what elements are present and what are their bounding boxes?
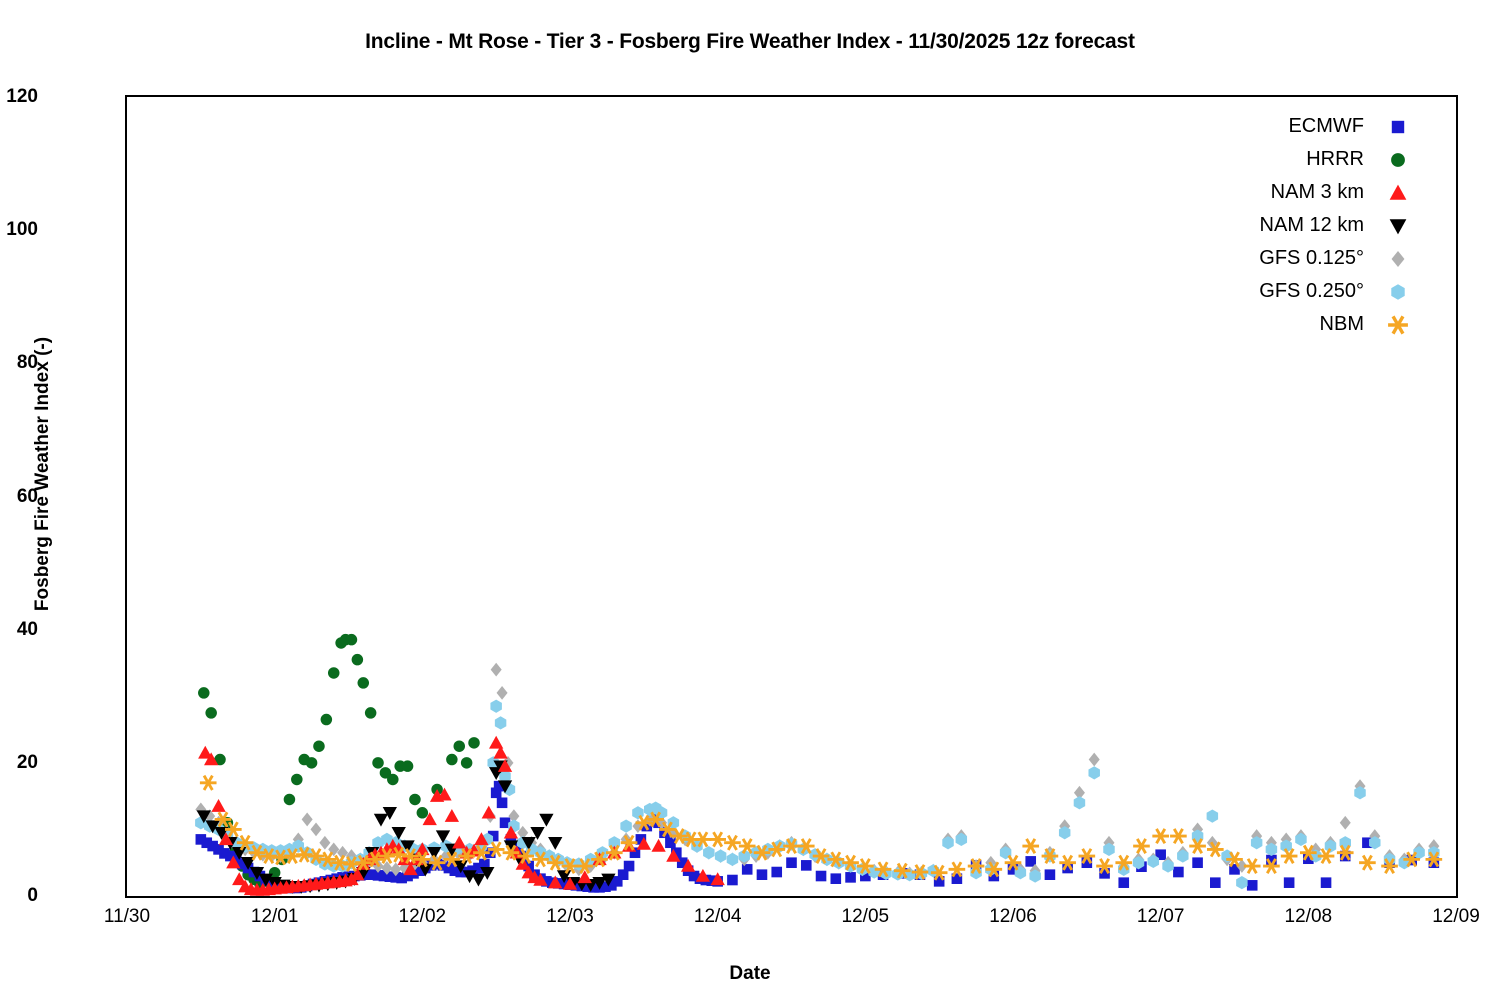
legend-item-nbm[interactable]: NBM — [1195, 308, 1410, 341]
legend-item-nam-3-km[interactable]: NAM 3 km — [1195, 176, 1410, 209]
y-tick-label: 120 — [0, 86, 38, 108]
triangle-up-marker-icon — [1386, 181, 1410, 205]
square-marker-icon — [1386, 115, 1410, 139]
y-tick-label: 60 — [0, 486, 38, 508]
y-tick-label: 40 — [0, 619, 38, 641]
y-tick-label: 20 — [0, 752, 38, 774]
legend-label: GFS 0.250° — [1259, 280, 1386, 303]
x-tick-label: 12/09 — [1356, 906, 1500, 928]
legend-item-gfs-0-125[interactable]: GFS 0.125° — [1195, 242, 1410, 275]
legend-label: NAM 12 km — [1260, 214, 1386, 237]
legend-label: NBM — [1320, 313, 1386, 336]
chart-title: Incline - Mt Rose - Tier 3 - Fosberg Fir… — [0, 30, 1500, 54]
legend-item-gfs-0-250[interactable]: GFS 0.250° — [1195, 275, 1410, 308]
diamond-marker-icon — [1386, 247, 1410, 271]
y-tick-label: 100 — [0, 219, 38, 241]
chart-legend: ECMWFHRRRNAM 3 kmNAM 12 kmGFS 0.125°GFS … — [1195, 110, 1410, 341]
chart-page: Incline - Mt Rose - Tier 3 - Fosberg Fir… — [0, 0, 1500, 1000]
legend-label: HRRR — [1306, 148, 1386, 171]
legend-item-ecmwf[interactable]: ECMWF — [1195, 110, 1410, 143]
legend-item-hrrr[interactable]: HRRR — [1195, 143, 1410, 176]
legend-label: NAM 3 km — [1271, 181, 1386, 204]
hexagon-marker-icon — [1386, 280, 1410, 304]
y-tick-label: 80 — [0, 352, 38, 374]
x-axis-label: Date — [0, 963, 1500, 985]
triangle-down-marker-icon — [1386, 214, 1410, 238]
legend-item-nam-12-km[interactable]: NAM 12 km — [1195, 209, 1410, 242]
circle-marker-icon — [1386, 148, 1410, 172]
legend-label: ECMWF — [1288, 115, 1386, 138]
asterisk-marker-icon — [1386, 313, 1410, 337]
y-tick-label: 0 — [0, 885, 38, 907]
legend-label: GFS 0.125° — [1259, 247, 1386, 270]
